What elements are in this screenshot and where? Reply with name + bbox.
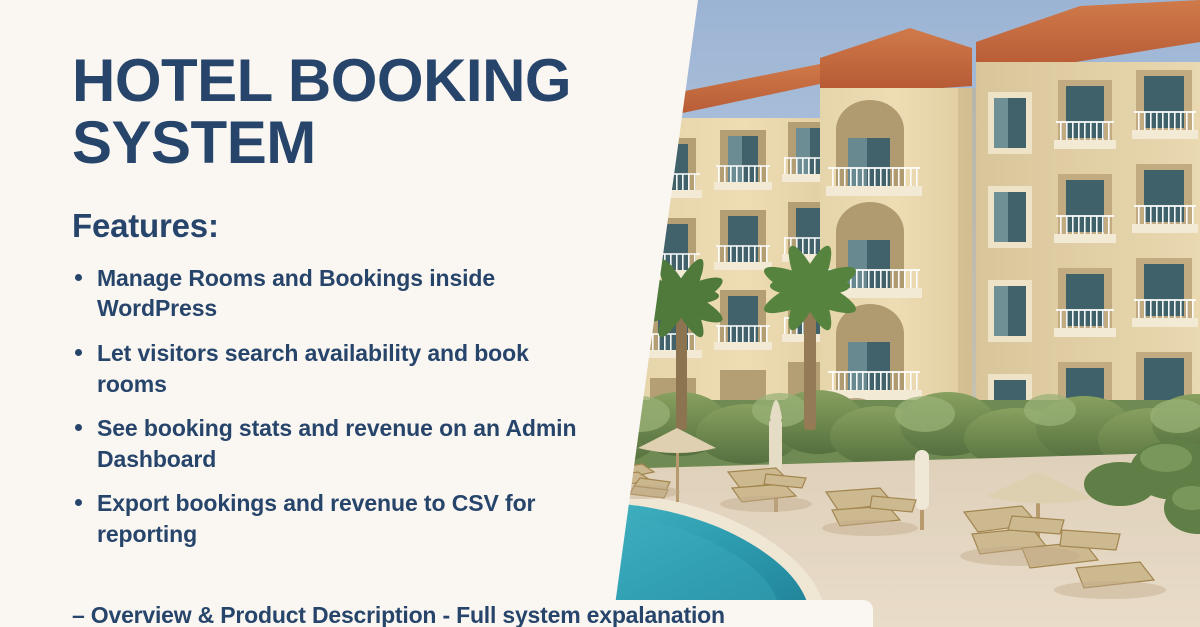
features-heading: Features: — [72, 207, 720, 245]
bullet-dot-icon — [75, 349, 82, 356]
feature-text: Manage Rooms and Bookings inside WordPre… — [97, 265, 495, 322]
list-item: Export bookings and revenue to CSV for r… — [72, 488, 592, 549]
list-item: See booking stats and revenue on an Admi… — [72, 413, 592, 474]
feature-text: Export bookings and revenue to CSV for r… — [97, 490, 535, 547]
bullet-dot-icon — [75, 499, 82, 506]
footer-card: – Overview & Product Description - Full … — [0, 600, 873, 627]
poster-canvas: HOTEL BOOKING SYSTEM Features: Manage Ro… — [0, 0, 1200, 627]
bullet-dot-icon — [75, 274, 82, 281]
feature-text: See booking stats and revenue on an Admi… — [97, 415, 576, 472]
building-center-tower — [820, 28, 980, 428]
feature-text: Let visitors search availability and boo… — [97, 340, 529, 397]
list-item: Manage Rooms and Bookings inside WordPre… — [72, 263, 592, 324]
list-item: Let visitors search availability and boo… — [72, 338, 592, 399]
poster-content: HOTEL BOOKING SYSTEM Features: Manage Ro… — [0, 0, 720, 627]
page-title: HOTEL BOOKING SYSTEM — [72, 50, 720, 175]
features-list: Manage Rooms and Bookings inside WordPre… — [72, 263, 720, 550]
bullet-dot-icon — [75, 424, 82, 431]
building-right-wing — [976, 0, 1200, 432]
footer-text: – Overview & Product Description - Full … — [72, 602, 725, 627]
